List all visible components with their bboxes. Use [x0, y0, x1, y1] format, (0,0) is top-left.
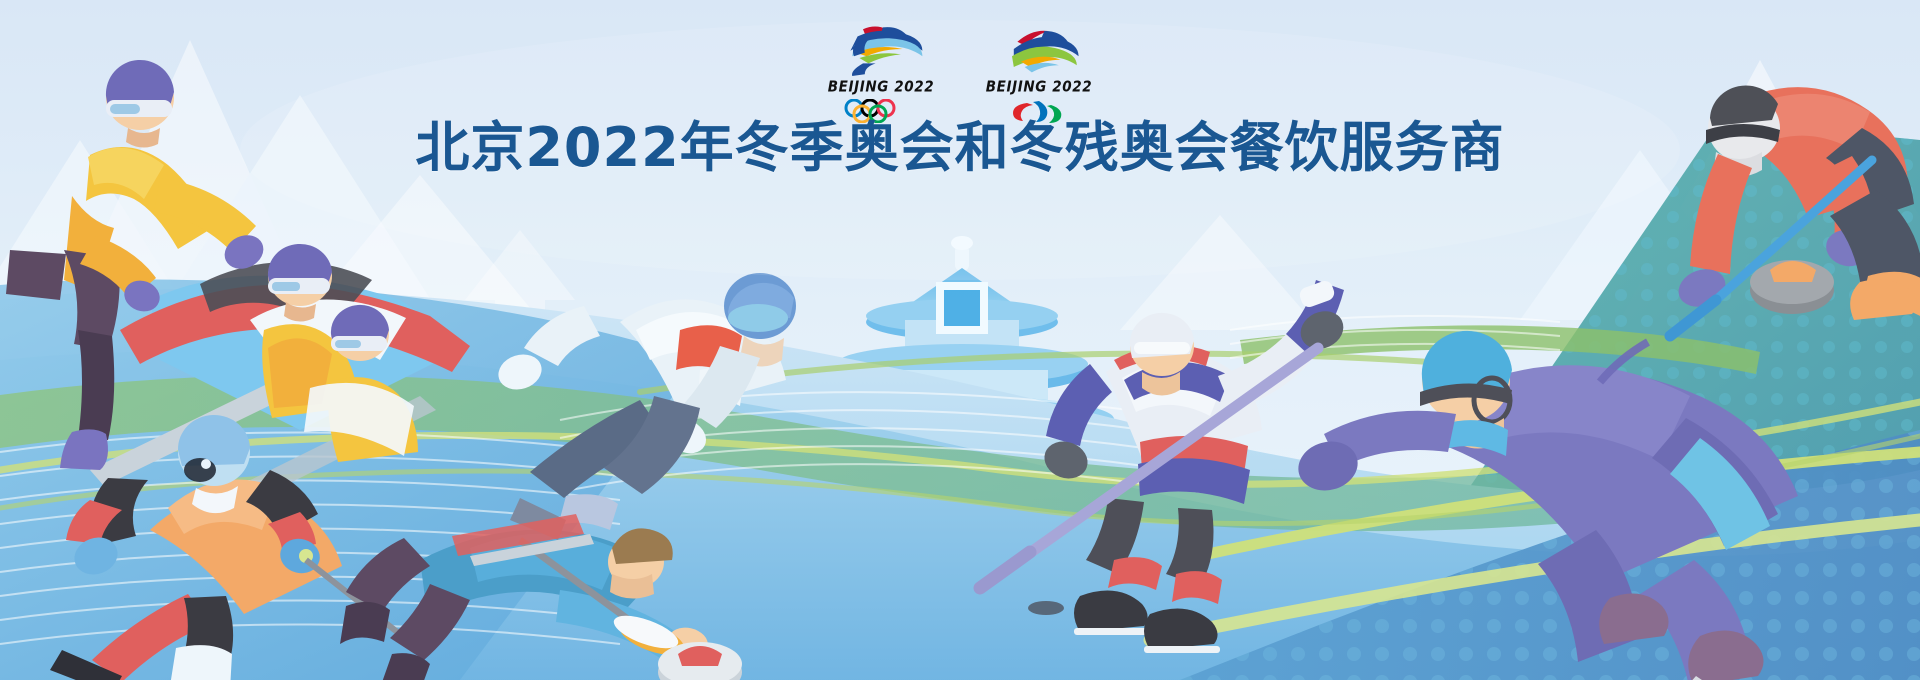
- paralympic-logo-block: BEIJING 2022: [974, 22, 1104, 123]
- emblem-row: BEIJING 2022: [0, 22, 1920, 123]
- beijing-2022-olympic-emblem: [833, 22, 929, 76]
- olympic-logo-block: BEIJING 2022: [816, 22, 946, 123]
- beijing-2022-catering-banner: BEIJING 2022: [0, 0, 1920, 680]
- beijing-2022-paralympic-emblem: [991, 22, 1087, 76]
- olympic-wordmark: BEIJING 2022: [828, 78, 934, 96]
- paralympic-wordmark: BEIJING 2022: [986, 78, 1092, 96]
- page-title: 北京2022年冬季奥会和冬残奥会餐饮服务商: [0, 118, 1920, 178]
